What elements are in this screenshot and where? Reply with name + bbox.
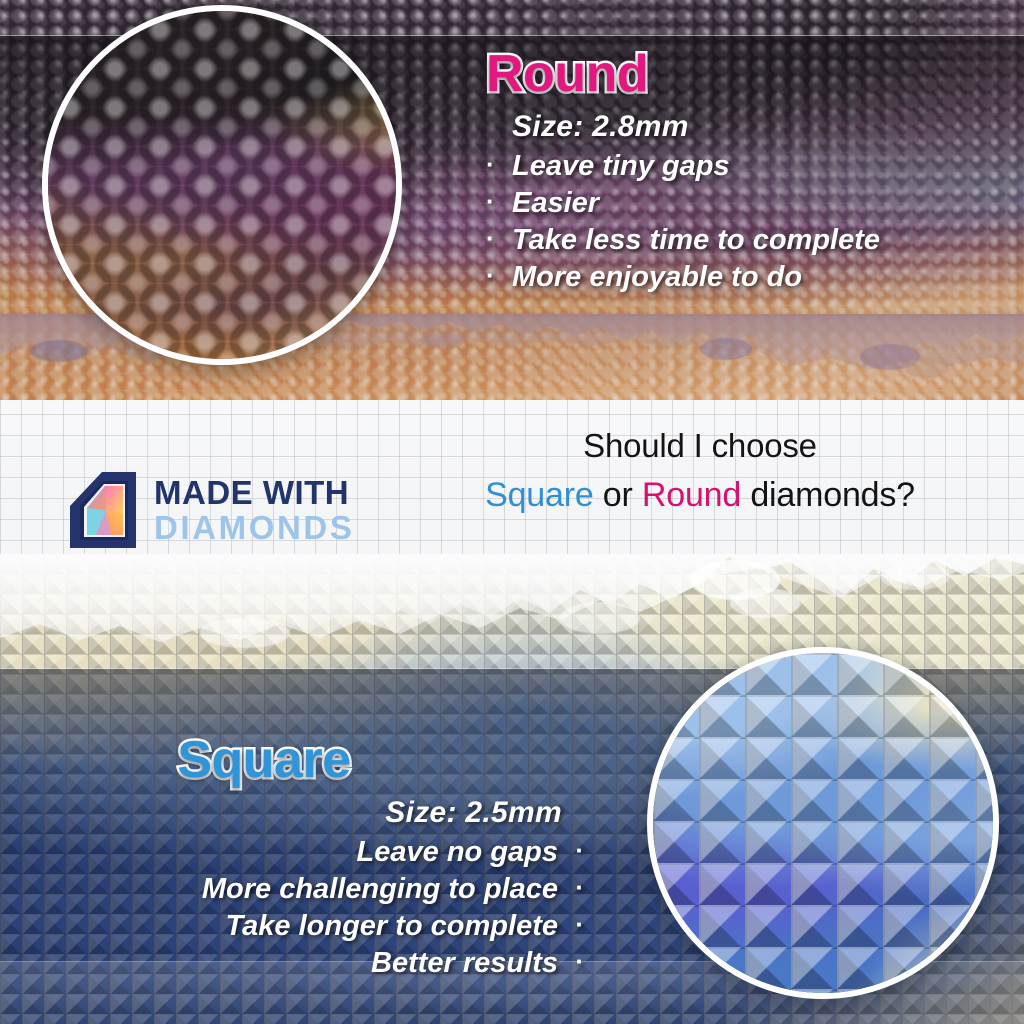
bullet-icon: · <box>575 834 584 867</box>
square-bullet-text: Leave no gaps <box>357 836 558 868</box>
round-closeup-inset <box>42 5 402 365</box>
round-benefits-list: ·Leave tiny gaps ·Easier ·Take less time… <box>486 148 1006 296</box>
square-bullet-text: Better results <box>371 947 558 979</box>
square-closeup-inset <box>647 647 999 999</box>
list-item: Leave no gaps· <box>0 834 584 871</box>
round-bullet-text: Leave tiny gaps <box>512 150 730 182</box>
bullet-icon: · <box>575 871 584 904</box>
bullet-icon: · <box>486 185 495 218</box>
bullet-icon: · <box>486 148 495 181</box>
list-item: ·Easier <box>486 185 1006 222</box>
list-item: More challenging to place· <box>0 871 584 908</box>
bullet-icon: · <box>575 908 584 941</box>
question-word-tail: diamonds? <box>741 476 915 514</box>
round-bullet-text: Easier <box>512 187 599 219</box>
round-closeup-texture-offset <box>48 11 396 359</box>
question-word-round: Round <box>642 476 741 514</box>
question-word-square: Square <box>485 476 593 514</box>
round-size-label: Size: 2.8mm <box>512 110 1006 144</box>
middle-band: MADE WITH DIAMONDS Should I choose Squar… <box>0 330 1024 680</box>
round-title: Round <box>486 48 1006 100</box>
diamond-logo-icon <box>66 470 140 550</box>
square-bullet-text: More challenging to place <box>202 873 558 905</box>
list-item: ·More enjoyable to do <box>486 259 1006 296</box>
diamond-painting-comparison-infographic: Round Size: 2.8mm ·Leave tiny gaps ·Easi… <box>0 0 1024 1024</box>
round-bullet-text: More enjoyable to do <box>512 261 802 293</box>
brand-line-2: DIAMONDS <box>154 511 354 544</box>
list-item: Take longer to complete· <box>0 908 584 945</box>
brand-line-1: MADE WITH <box>154 476 354 509</box>
square-size-label: Size: 2.5mm <box>0 796 562 830</box>
square-title: Square <box>0 734 584 786</box>
question-line-1: Should I choose <box>420 425 980 466</box>
headline-question: Should I choose Square or Round diamonds… <box>420 425 980 517</box>
question-line-2: Square or Round diamonds? <box>420 474 980 517</box>
bullet-icon: · <box>486 259 495 292</box>
bullet-icon: · <box>486 222 495 255</box>
bullet-icon: · <box>575 945 584 978</box>
square-bullet-text: Take longer to complete <box>226 910 559 942</box>
question-word-or: or <box>594 476 642 514</box>
brand-logo: MADE WITH DIAMONDS <box>66 470 354 550</box>
square-closeup-texture <box>653 653 993 993</box>
round-text-block: Round Size: 2.8mm ·Leave tiny gaps ·Easi… <box>486 48 1006 296</box>
list-item: ·Leave tiny gaps <box>486 148 1006 185</box>
list-item: Better results· <box>0 945 584 982</box>
square-text-block: Square Size: 2.5mm Leave no gaps· More c… <box>0 734 584 982</box>
square-drawbacks-list: Leave no gaps· More challenging to place… <box>0 834 584 982</box>
list-item: ·Take less time to complete <box>486 222 1006 259</box>
brand-wordmark: MADE WITH DIAMONDS <box>154 476 354 544</box>
round-bullet-text: Take less time to complete <box>512 224 880 256</box>
